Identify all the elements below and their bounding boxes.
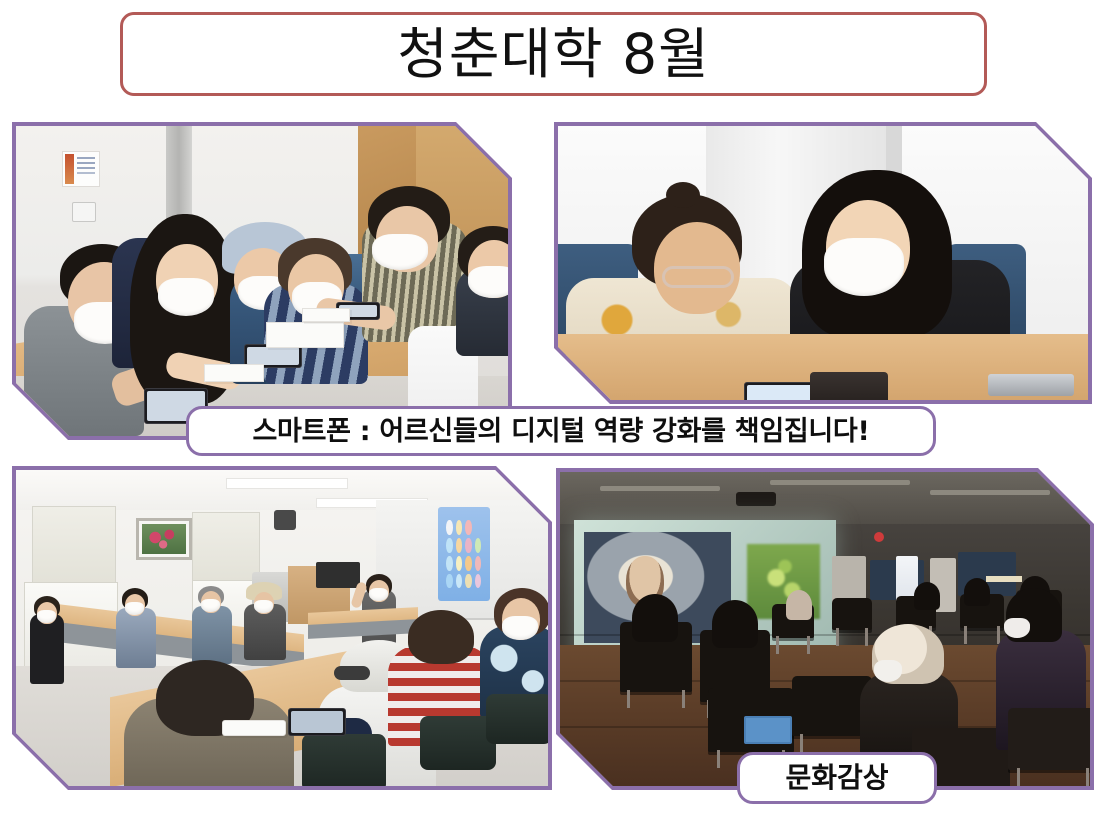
face-mask — [874, 660, 902, 682]
person-silhouette — [914, 582, 940, 610]
cap-brim — [334, 666, 370, 680]
ceiling-light — [226, 478, 348, 489]
thermostat — [72, 202, 96, 222]
person-silhouette — [964, 578, 990, 606]
exit-indicator — [874, 532, 884, 542]
projected-phone-screen — [438, 507, 490, 601]
photo-film-screening — [556, 468, 1094, 790]
window-blind — [192, 512, 260, 582]
ceiling-projector — [736, 492, 776, 506]
photo-classroom-projection — [12, 466, 552, 790]
caption-culture: 문화감상 — [737, 752, 937, 804]
paper-sheet — [204, 364, 264, 382]
paper-sheet — [266, 322, 344, 348]
ceiling-strip — [930, 490, 1050, 495]
eyeglasses — [662, 266, 734, 288]
window-blind — [32, 506, 116, 584]
projected-app-icons — [446, 520, 481, 588]
photo-3-image — [16, 470, 548, 786]
person-silhouette — [712, 600, 758, 648]
framed-picture — [136, 518, 192, 560]
ceiling-strip — [600, 486, 720, 491]
ceiling-strip — [770, 480, 910, 485]
person-silhouette — [786, 590, 812, 620]
caption-culture-text: 문화감상 — [785, 764, 888, 792]
wall-light — [986, 576, 1022, 582]
page-title-banner: 청춘대학 8월 — [120, 12, 987, 96]
person-silhouette — [632, 594, 678, 642]
chair — [1008, 708, 1090, 770]
pencil-case — [222, 720, 286, 736]
photo-4-image — [560, 472, 1090, 786]
chair — [486, 694, 548, 744]
chair — [832, 598, 872, 630]
chair — [420, 716, 496, 770]
chair — [302, 734, 386, 786]
face-mask — [1004, 618, 1030, 638]
tablet-device — [988, 374, 1074, 396]
photo-2-image — [558, 126, 1088, 400]
photo-1-image — [16, 126, 508, 436]
page-title: 청춘대학 8월 — [397, 27, 709, 82]
caption-smartphone-text: 스마트폰 : 어르신들의 디지털 역량 강화를 책임집니다! — [253, 418, 870, 445]
equipment-box — [316, 562, 360, 588]
blue-overlay-marker — [744, 716, 792, 744]
phone-device — [288, 708, 346, 736]
paper-sheet — [302, 308, 350, 322]
phone-case — [810, 372, 888, 400]
wall-poster — [62, 151, 100, 187]
caption-smartphone: 스마트폰 : 어르신들의 디지털 역량 강화를 책임집니다! — [186, 406, 936, 456]
photo-smartphone-class-助 — [12, 122, 512, 440]
photo-one-on-one-coaching — [554, 122, 1092, 404]
ceiling-speaker — [274, 510, 296, 530]
